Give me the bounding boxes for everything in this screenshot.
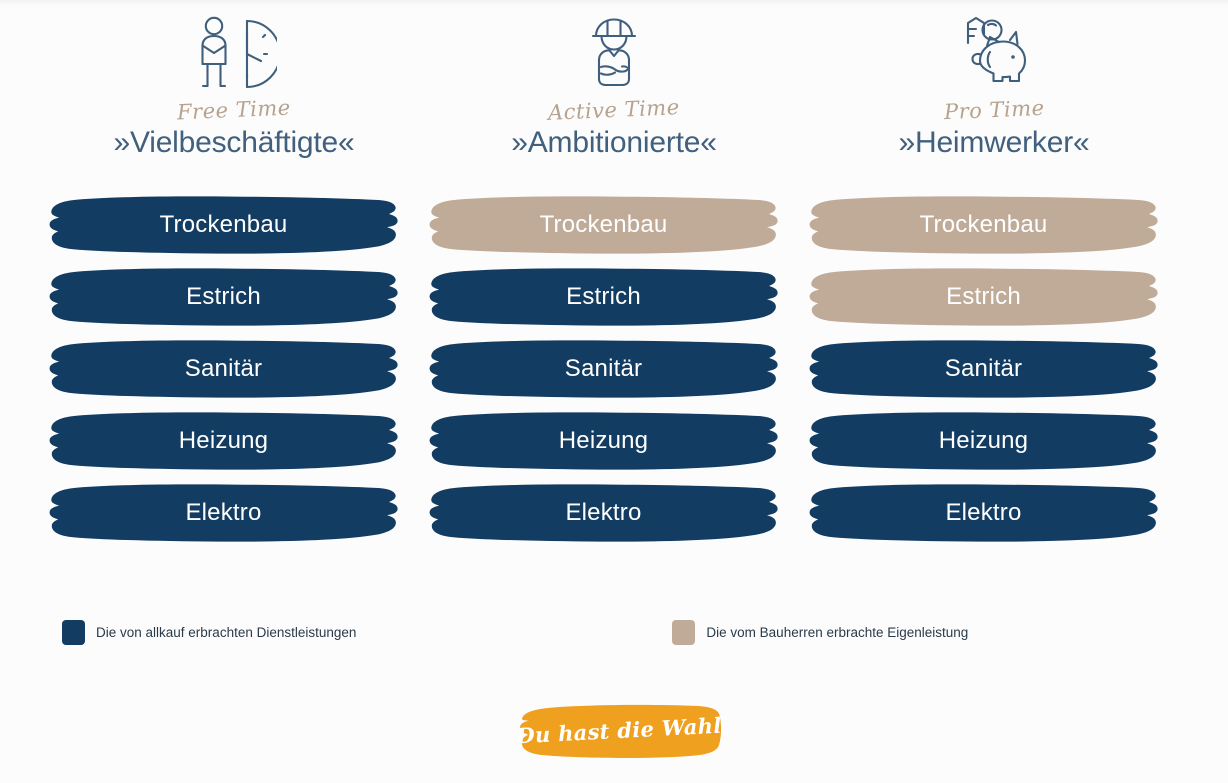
legend-swatch-navy: [62, 620, 85, 645]
bar-label: Estrich: [566, 283, 641, 311]
worker-with-helmet-icon: [581, 14, 647, 92]
column-pro-time: Pro Time »Heimwerker« Trockenbau Estrich…: [805, 0, 1183, 600]
bar-label: Heizung: [179, 427, 268, 455]
legend-label: Die von allkauf erbrachten Dienstleistun…: [96, 625, 356, 640]
column-title: »Heimwerker«: [899, 126, 1090, 160]
bar-list: Trockenbau Estrich Sanitär Heizung Elekt…: [805, 190, 1183, 544]
bar-elektro[interactable]: Elektro: [805, 482, 1162, 544]
bar-trockenbau[interactable]: Trockenbau: [805, 194, 1162, 256]
bar-list: Trockenbau Estrich Sanitär Heizung Elekt…: [45, 190, 423, 544]
column-title: »Vielbeschäftigte«: [113, 126, 354, 160]
bar-label: Elektro: [565, 499, 641, 527]
bar-sanitaer[interactable]: Sanitär: [805, 338, 1162, 400]
bar-elektro[interactable]: Elektro: [45, 482, 402, 544]
bar-label: Elektro: [945, 499, 1021, 527]
column-subtitle: Active Time: [548, 95, 681, 125]
bar-sanitaer[interactable]: Sanitär: [425, 338, 782, 400]
bar-label: Trockenbau: [920, 211, 1048, 239]
legend-item-bauherr: Die vom Bauherren erbrachte Eigenleistun…: [672, 620, 968, 645]
legend-swatch-beige: [672, 620, 695, 645]
bar-label: Estrich: [186, 283, 261, 311]
bar-label: Trockenbau: [160, 211, 288, 239]
bar-trockenbau[interactable]: Trockenbau: [425, 194, 782, 256]
piggy-bank-icon: [954, 14, 1034, 92]
bar-estrich[interactable]: Estrich: [805, 266, 1162, 328]
bar-label: Trockenbau: [540, 211, 668, 239]
bar-estrich[interactable]: Estrich: [425, 266, 782, 328]
bar-heizung[interactable]: Heizung: [425, 410, 782, 472]
bar-trockenbau[interactable]: Trockenbau: [45, 194, 402, 256]
column-subtitle: Pro Time: [943, 96, 1045, 124]
column-header: Free Time »Vielbeschäftigte«: [45, 0, 423, 190]
bar-label: Sanitär: [945, 355, 1022, 383]
bar-list: Trockenbau Estrich Sanitär Heizung Elekt…: [425, 190, 803, 544]
bar-label: Elektro: [185, 499, 261, 527]
column-free-time: Free Time »Vielbeschäftigte« Trockenbau …: [45, 0, 423, 600]
bar-sanitaer[interactable]: Sanitär: [45, 338, 402, 400]
bar-label: Estrich: [946, 283, 1021, 311]
column-active-time: Active Time »Ambitionierte« Trockenbau E…: [425, 0, 803, 600]
bar-elektro[interactable]: Elektro: [425, 482, 782, 544]
bar-label: Heizung: [939, 427, 1028, 455]
banner-text: Du hast die Wahl: [511, 696, 728, 763]
category-columns: Free Time »Vielbeschäftigte« Trockenbau …: [0, 0, 1228, 600]
legend-label: Die vom Bauherren erbrachte Eigenleistun…: [706, 625, 968, 640]
legend: Die von allkauf erbrachten Dienstleistun…: [62, 620, 968, 645]
bar-heizung[interactable]: Heizung: [805, 410, 1162, 472]
legend-item-allkauf: Die von allkauf erbrachten Dienstleistun…: [62, 620, 356, 645]
bar-label: Heizung: [559, 427, 648, 455]
choice-banner[interactable]: Du hast die Wahl: [512, 703, 726, 759]
column-subtitle: Free Time: [177, 96, 292, 125]
bar-label: Sanitär: [185, 355, 262, 383]
column-header: Pro Time »Heimwerker«: [805, 0, 1183, 190]
bar-heizung[interactable]: Heizung: [45, 410, 402, 472]
column-header: Active Time »Ambitionierte«: [425, 0, 803, 190]
person-with-clock-icon: [191, 14, 277, 92]
bar-label: Sanitär: [565, 355, 642, 383]
column-title: »Ambitionierte«: [511, 126, 716, 160]
bar-estrich[interactable]: Estrich: [45, 266, 402, 328]
